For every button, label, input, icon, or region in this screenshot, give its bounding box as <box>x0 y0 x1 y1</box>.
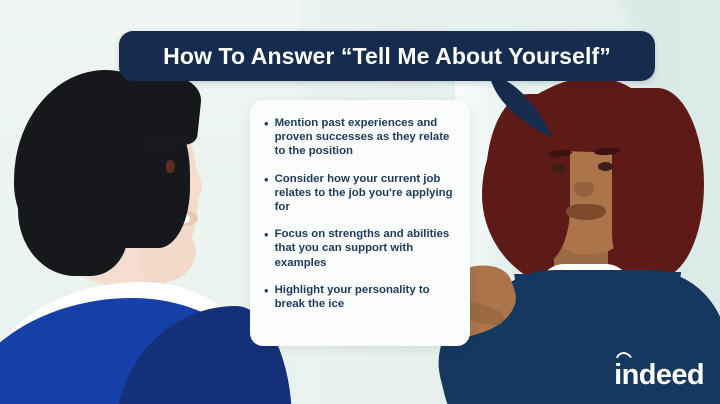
man-illustration <box>0 70 290 404</box>
woman-nose <box>574 182 594 197</box>
tip-text: Highlight your personality to break the … <box>275 283 456 311</box>
woman-hair-right <box>612 88 704 278</box>
tip-text: Consider how your current job relates to… <box>275 172 456 215</box>
man-sideburn <box>106 154 136 210</box>
bullet-point-icon: • <box>264 172 269 215</box>
list-item: • Highlight your personality to break th… <box>264 283 456 311</box>
bullet-point-icon: • <box>264 283 269 311</box>
woman-eye-right <box>598 162 613 171</box>
page-title: How To Answer “Tell Me About Yourself” <box>163 43 611 70</box>
speech-bubble-tail <box>487 74 559 140</box>
woman-eye-left <box>552 164 566 173</box>
tip-text: Focus on strengths and abilities that yo… <box>275 227 456 270</box>
tips-card: • Mention past experiences and proven su… <box>250 100 470 346</box>
woman-mouth <box>566 204 606 220</box>
infographic-canvas: How To Answer “Tell Me About Yourself” •… <box>0 0 720 404</box>
indeed-logo: indeed <box>614 361 704 390</box>
bullet-point-icon: • <box>264 227 269 270</box>
list-item: • Focus on strengths and abilities that … <box>264 227 456 270</box>
list-item: • Mention past experiences and proven su… <box>264 116 456 159</box>
bullet-point-icon: • <box>264 116 269 159</box>
title-banner: How To Answer “Tell Me About Yourself” <box>119 31 655 81</box>
man-eye <box>166 160 175 173</box>
tip-text: Mention past experiences and proven succ… <box>275 116 456 159</box>
list-item: • Consider how your current job relates … <box>264 172 456 215</box>
